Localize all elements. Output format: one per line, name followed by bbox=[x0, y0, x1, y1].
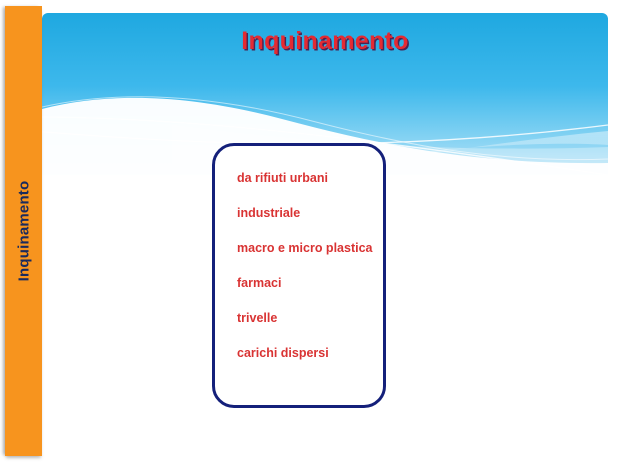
list-item: carichi dispersi bbox=[237, 347, 372, 360]
list-item: macro e micro plastica bbox=[237, 242, 372, 255]
section-side-tab-label: Inquinamento bbox=[15, 181, 32, 282]
section-side-tab[interactable]: Inquinamento bbox=[5, 6, 42, 456]
presentation-slide: Inquinamento Inquinamento da rifiuti urb… bbox=[0, 0, 620, 464]
list-item: da rifiuti urbani bbox=[237, 172, 372, 185]
content-box: da rifiuti urbani industriale macro e mi… bbox=[212, 143, 386, 408]
pollution-source-list: da rifiuti urbani industriale macro e mi… bbox=[237, 172, 372, 360]
list-item: industriale bbox=[237, 207, 372, 220]
list-item: farmaci bbox=[237, 277, 372, 290]
list-item: trivelle bbox=[237, 312, 372, 325]
page-title: Inquinamento bbox=[42, 27, 608, 56]
